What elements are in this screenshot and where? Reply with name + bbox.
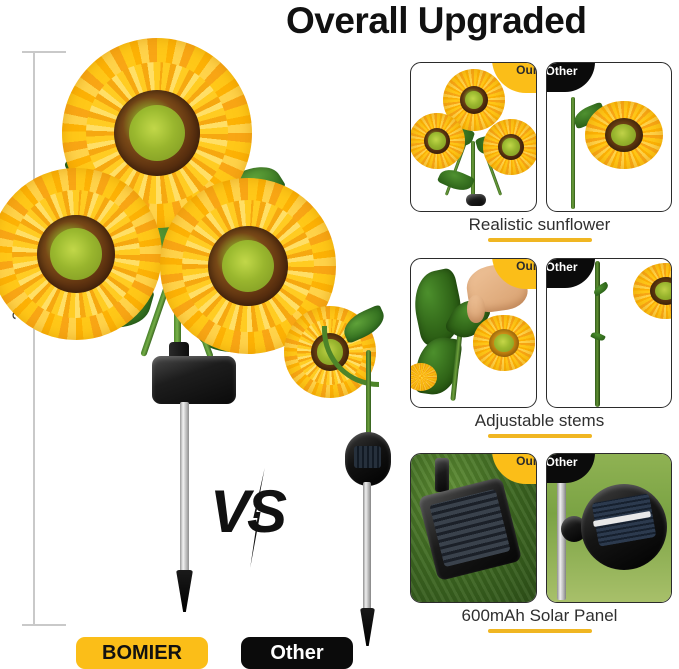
- comparison-panel-realistic-sunflower: Our Other Realistic sunflower: [400, 56, 679, 252]
- sunflower-core: [114, 90, 200, 176]
- solar-panel-box: [152, 356, 236, 404]
- our-card: Our: [410, 62, 537, 212]
- product-showcase: 27.6in: [0, 30, 400, 646]
- dimension-tick-bottom: [22, 624, 66, 626]
- round-solar-panel: [345, 432, 391, 486]
- sunflower-head: [483, 119, 537, 175]
- our-card: Our: [410, 258, 537, 408]
- other-card: Other: [546, 258, 673, 408]
- comparison-panel-solar-panel: Our Other 600mAh Solar Panel: [400, 447, 679, 643]
- caption-underline: [488, 238, 592, 242]
- sunflower-head: [585, 101, 663, 169]
- sunflower-core: [424, 128, 450, 154]
- sunflower-core: [605, 118, 643, 152]
- stake-tip: [176, 570, 193, 612]
- our-card: Our: [410, 453, 537, 603]
- brand-pill-other: Other: [241, 637, 353, 669]
- panel-card-pair: Our Other: [410, 453, 672, 601]
- sunflower-head: [633, 263, 673, 319]
- stem: [571, 97, 575, 209]
- stem: [471, 141, 475, 199]
- panel-caption: Adjustable stems: [400, 410, 679, 432]
- panel-card-pair: Our Other: [410, 258, 672, 406]
- sunflower-core: [489, 329, 519, 357]
- stake-pole: [180, 402, 189, 574]
- caption-underline: [488, 629, 592, 633]
- sunflower-head: [473, 315, 535, 371]
- caption-underline: [488, 434, 592, 438]
- comparison-panels: Our Other Realistic sunflower: [400, 56, 679, 646]
- comparison-panel-adjustable-stems: Our Other Adjustable stems: [400, 252, 679, 448]
- finger-icon: [467, 295, 485, 323]
- panel-caption: 600mAh Solar Panel: [400, 605, 679, 627]
- stake-pole: [363, 482, 371, 612]
- stem: [366, 350, 371, 440]
- sunflower-core: [37, 215, 115, 293]
- other-card: Other: [546, 62, 673, 212]
- other-card: Other: [546, 453, 673, 603]
- sunflower-core: [460, 86, 488, 114]
- stake-neck: [435, 458, 449, 492]
- solar-panel-box: [466, 194, 486, 206]
- panel-caption: Realistic sunflower: [400, 214, 679, 236]
- vs-label: VS: [210, 476, 284, 548]
- sunflower-core: [208, 226, 288, 306]
- brand-pill-bomier: BOMIER: [76, 637, 208, 669]
- sunflower-core: [498, 134, 524, 160]
- sunflower-head: [410, 113, 465, 169]
- stake-tip: [360, 608, 375, 646]
- panel-card-pair: Our Other: [410, 62, 672, 210]
- vs-badge: VS: [210, 476, 308, 552]
